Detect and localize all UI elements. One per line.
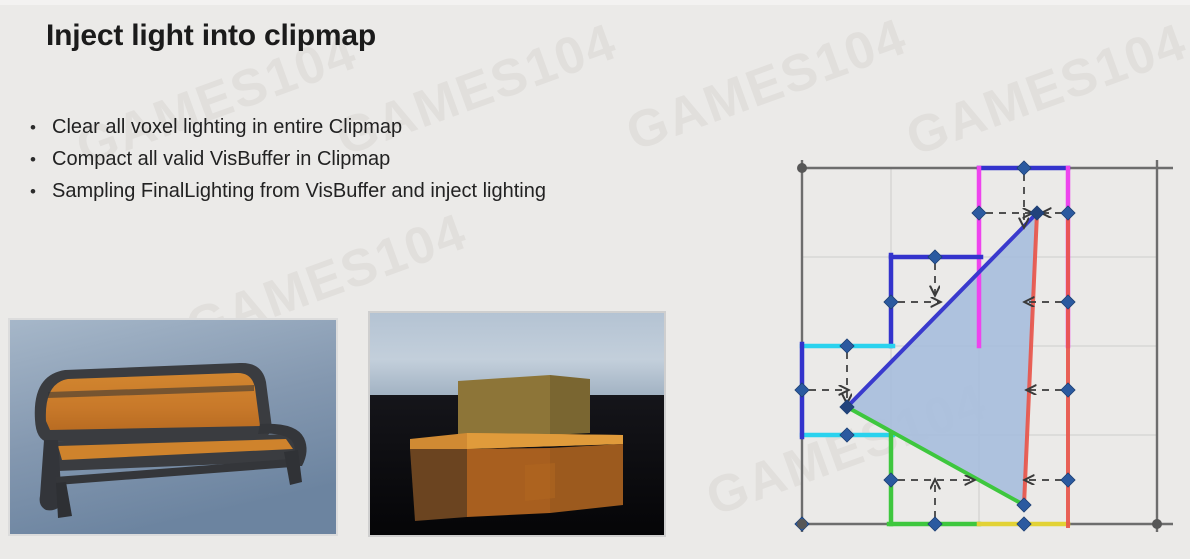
slide-top-edge [0,0,1190,5]
bench-render-graphic [10,320,336,534]
watermark-text: GAMES104 [619,7,915,164]
list-item: • Clear all voxel lighting in entire Cli… [14,116,546,148]
list-item: • Sampling FinalLighting from VisBuffer … [14,180,546,212]
bullet-marker-icon: • [14,183,52,200]
list-item: • Compact all valid VisBuffer in Clipmap [14,148,546,180]
figure-bench-voxel [368,311,666,537]
bullet-text: Sampling FinalLighting from VisBuffer an… [52,180,546,203]
bench-voxel-graphic [370,313,664,535]
bullet-text: Compact all valid VisBuffer in Clipmap [52,148,390,171]
bullet-marker-icon: • [14,151,52,168]
figure-bench-render [8,318,338,536]
bullet-marker-icon: • [14,119,52,136]
clipmap-diagram [780,145,1180,545]
page-title: Inject light into clipmap [46,19,376,53]
bullet-text: Clear all voxel lighting in entire Clipm… [52,116,402,139]
bullet-list: • Clear all voxel lighting in entire Cli… [14,116,546,212]
